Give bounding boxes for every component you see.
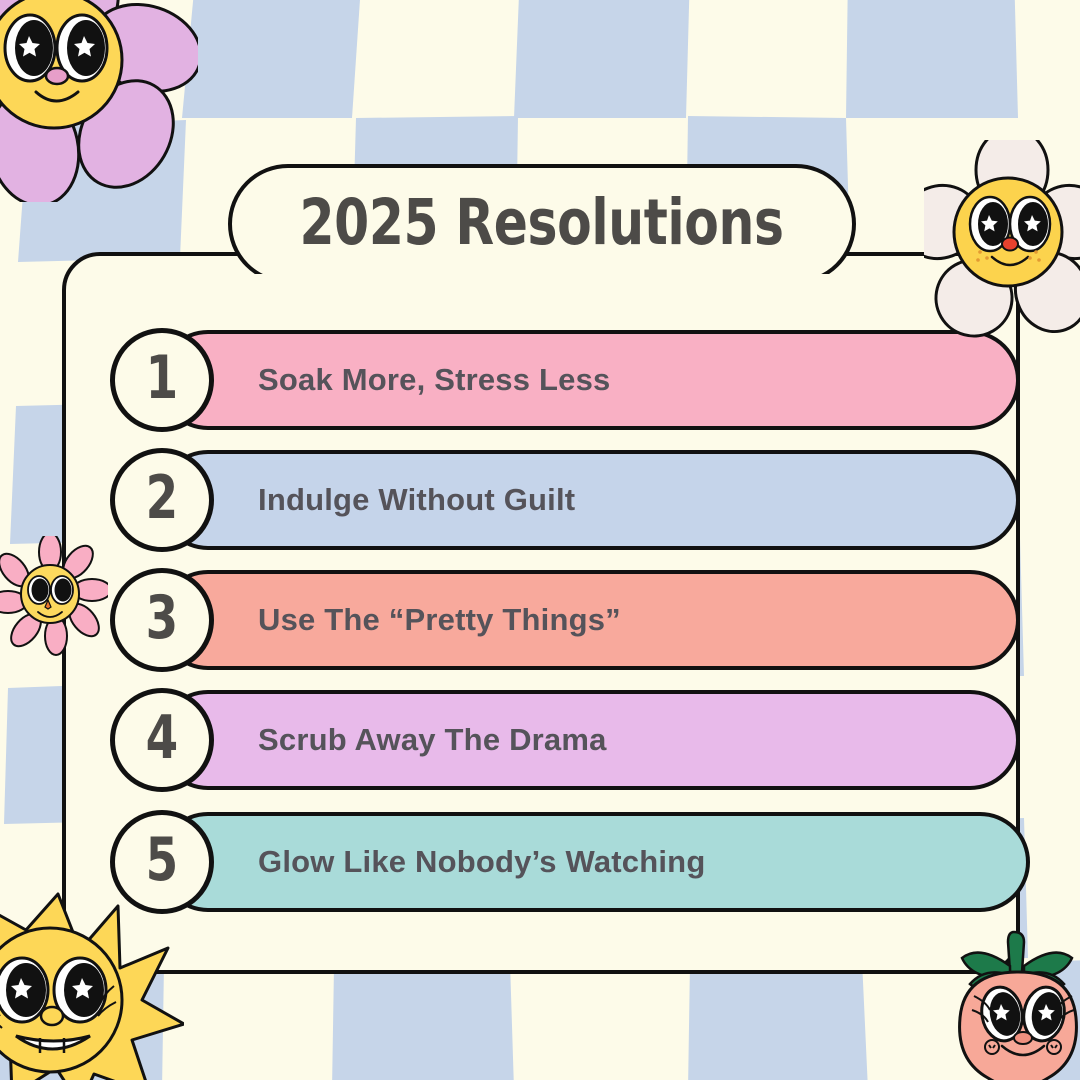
resolution-number-1: 1: [146, 348, 179, 413]
flower-purple-icon: [0, 0, 198, 202]
resolution-label-2: Indulge Without Guilt: [258, 482, 575, 518]
resolution-bar-5[interactable]: Glow Like Nobody’s Watching: [158, 812, 1030, 912]
resolution-list: Soak More, Stress Less 1 Indulge Without…: [62, 252, 1020, 974]
poster-canvas: 2025 Resolutions Soak More, Stress Less …: [0, 0, 1080, 1080]
resolution-number-5: 5: [146, 830, 179, 895]
strawberry-icon: [948, 930, 1080, 1080]
resolution-number-circle-1: 1: [110, 328, 214, 432]
flower-daisy-icon: [924, 140, 1080, 340]
resolution-number-circle-4: 4: [110, 688, 214, 792]
sun-icon: [0, 890, 184, 1080]
resolution-bar-3[interactable]: Use The “Pretty Things”: [158, 570, 1020, 670]
resolution-bar-1[interactable]: Soak More, Stress Less: [158, 330, 1020, 430]
resolution-number-circle-3: 3: [110, 568, 214, 672]
resolution-number-circle-2: 2: [110, 448, 214, 552]
resolution-label-4: Scrub Away The Drama: [258, 722, 607, 758]
resolution-number-4: 4: [146, 708, 179, 773]
resolution-bar-2[interactable]: Indulge Without Guilt: [158, 450, 1020, 550]
page-title: 2025 Resolutions: [300, 191, 784, 258]
resolution-number-3: 3: [146, 588, 179, 653]
resolution-label-1: Soak More, Stress Less: [258, 362, 610, 398]
resolution-label-3: Use The “Pretty Things”: [258, 602, 621, 638]
resolution-number-2: 2: [146, 468, 179, 533]
resolution-label-5: Glow Like Nobody’s Watching: [258, 844, 705, 880]
resolution-bar-4[interactable]: Scrub Away The Drama: [158, 690, 1020, 790]
flower-pink-icon: [0, 536, 108, 656]
